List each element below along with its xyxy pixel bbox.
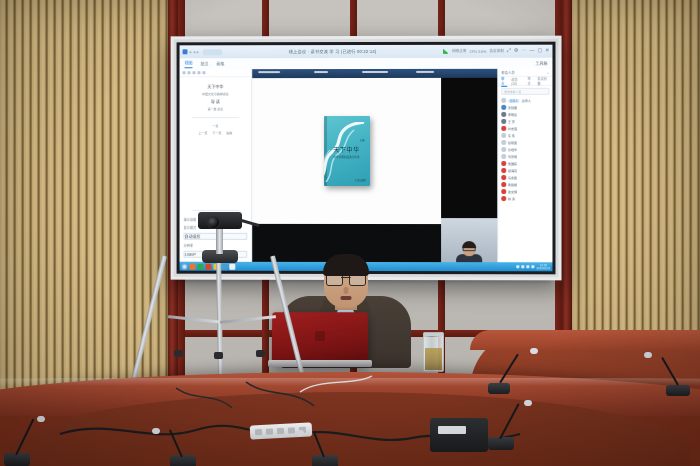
- conference-microphone: [614, 352, 700, 396]
- tab-pen[interactable]: 画笔: [216, 61, 224, 67]
- participants-panel: 参会人员 ⌄ 聊天 成员 (18) 举手 会议纪要 搜索参会人员 主持人主持人: [497, 69, 552, 263]
- participant-row[interactable]: 郑海燕: [498, 167, 552, 174]
- avatar: [501, 154, 506, 159]
- title-bar-right: 网络正常 CPU 3.6% 会议录制 ⤢ ⚙ ⋯ — ▢ ✕: [443, 49, 549, 54]
- settings-divider: [191, 210, 239, 211]
- avatar: [501, 126, 506, 131]
- clock-date: 2023/02/21: [536, 266, 550, 270]
- image-icon[interactable]: [202, 71, 205, 74]
- participant-row[interactable]: 黄丽娟: [498, 181, 552, 188]
- shared-slide: 主编 天下中华 中华文明的起源与传承 人民出版社: [252, 78, 441, 224]
- avatar: [501, 112, 506, 117]
- participants-tabs: 聊天 成员 (18) 举手 会议纪要: [498, 77, 552, 86]
- volume-tray-icon[interactable]: [521, 265, 524, 268]
- camera-lens-icon: [207, 216, 220, 229]
- participant-name: 徐文博: [508, 189, 517, 194]
- close-button[interactable]: ✕: [545, 49, 549, 54]
- participant-name: 李明远: [508, 112, 517, 117]
- tab-view[interactable]: 视图: [185, 60, 193, 68]
- participant-row[interactable]: 马永胜: [498, 174, 552, 181]
- tab-raise-hand[interactable]: 举手: [527, 76, 533, 86]
- participant-row[interactable]: 刘志强: [498, 125, 552, 132]
- participant-row[interactable]: 主持人主持人: [498, 97, 552, 104]
- document-ribbon: [180, 69, 252, 77]
- search-placeholder: 搜索参会人员: [504, 89, 521, 93]
- conference-microphone: [488, 348, 598, 394]
- document-body: 天下中华 中国文化与精神谱系 导 读 第一章 总论 一览 上一页 下一页 缩放: [184, 81, 248, 134]
- shield-tray-icon[interactable]: [531, 265, 534, 268]
- presenter-hair: [323, 254, 369, 276]
- book-subtitle: 中华文明的起源与传承: [324, 154, 370, 158]
- network-tray-icon[interactable]: [516, 265, 519, 268]
- participant-row[interactable]: 赵晓雯: [498, 139, 552, 146]
- participant-name: 王 芳: [508, 119, 515, 124]
- book-publisher: 人民出版社: [355, 178, 367, 182]
- control-unit[interactable]: [430, 418, 488, 452]
- avatar: [501, 189, 506, 194]
- self-video-image: [441, 218, 497, 262]
- participants-title: 参会人员: [501, 70, 515, 75]
- avatar: [501, 98, 506, 103]
- tea-liquid: [425, 348, 442, 370]
- bold-icon[interactable]: [183, 71, 186, 74]
- laptop-logo: [315, 331, 325, 341]
- italic-icon[interactable]: [188, 71, 191, 74]
- participant-list: 主持人主持人张建国李明远王 芳刘志强陈 伟赵晓雯孙培华周景明吴国栋郑海燕马永胜黄…: [498, 97, 552, 202]
- gear-icon[interactable]: ⚙: [514, 49, 519, 54]
- self-video-tile[interactable]: [441, 78, 497, 262]
- doc-line-3: 导 读: [184, 99, 248, 105]
- screenshot-root: 线上会议 · 读书交流 学 习 (已进行 00:22:14) 网络正常 CPU …: [0, 0, 700, 466]
- participant-name: 林 涛: [508, 196, 515, 201]
- control-unit-button[interactable]: [438, 426, 466, 434]
- presenter-nose: [343, 287, 348, 294]
- participant-name: 郑海燕: [508, 168, 517, 173]
- conference-table-right-surface: [470, 330, 700, 350]
- participant-row[interactable]: 王 芳: [498, 118, 552, 125]
- nav-next[interactable]: 下一页: [212, 131, 221, 135]
- system-tray: [516, 265, 534, 268]
- record-label[interactable]: 会议录制: [489, 49, 503, 54]
- nav-zoom[interactable]: 缩放: [226, 131, 232, 135]
- align-icon[interactable]: [192, 71, 195, 74]
- participant-row[interactable]: 徐文博: [498, 188, 552, 195]
- maximize-button[interactable]: ▢: [537, 49, 542, 54]
- host-badge: 主持人: [508, 98, 520, 102]
- book-author-mark: 主编: [360, 138, 365, 142]
- list-icon[interactable]: [197, 71, 200, 74]
- tripod-lock-left[interactable]: [174, 350, 183, 357]
- doc-line-2: 中国文化与精神谱系: [184, 92, 248, 96]
- ime-tray-icon[interactable]: [526, 265, 529, 268]
- participant-row[interactable]: 吴国栋: [498, 160, 552, 167]
- avatar: [501, 119, 506, 124]
- participant-name: 赵晓雯: [508, 140, 517, 145]
- nav-prev[interactable]: 上一页: [198, 131, 207, 135]
- avatar: [501, 182, 506, 187]
- participant-row[interactable]: 林 涛: [498, 195, 552, 202]
- avatar: [501, 147, 506, 152]
- participant-name: 孙培华: [508, 147, 517, 152]
- title-dots: [190, 51, 199, 53]
- avatar: [501, 196, 506, 201]
- tripod-center-column: [216, 226, 223, 254]
- tab-chat[interactable]: 聊天: [501, 75, 507, 86]
- participant-name: 黄丽娟: [508, 182, 517, 187]
- minimize-button[interactable]: —: [529, 49, 534, 54]
- avatar: [501, 140, 506, 145]
- book-cover: 主编 天下中华 中华文明的起源与传承 人民出版社: [324, 116, 370, 186]
- tab-annotate[interactable]: 批注: [200, 61, 208, 67]
- participant-name: 主持人: [522, 98, 531, 103]
- participant-name: 刘志强: [508, 126, 517, 131]
- fullscreen-icon[interactable]: ⤢: [507, 49, 511, 54]
- participant-name: 吴国栋: [508, 161, 517, 166]
- participant-name: 马永胜: [508, 175, 517, 180]
- participant-name: 周景明: [508, 154, 517, 159]
- network-label: 网络正常: [452, 49, 466, 54]
- taskbar-clock[interactable]: 15:05 2023/02/21: [536, 264, 550, 270]
- app-icon: [183, 49, 188, 54]
- conference-microphone: [112, 428, 202, 466]
- participant-row[interactable]: 周景明: [498, 153, 552, 160]
- conference-microphone: [488, 398, 584, 450]
- avatar: [501, 133, 506, 138]
- meeting-id-pill[interactable]: [202, 49, 222, 55]
- tripod-lock-right[interactable]: [256, 350, 265, 357]
- chevron-down-icon[interactable]: ⌄: [547, 70, 550, 74]
- tab-minutes[interactable]: 会议纪要: [537, 76, 549, 86]
- network-icon: [443, 49, 449, 54]
- tripod-spreader: [168, 318, 276, 322]
- participant-search-input[interactable]: 搜索参会人员: [501, 88, 549, 95]
- participant-row[interactable]: 张建国: [498, 104, 552, 111]
- toolbox-button[interactable]: 工具箱: [535, 60, 547, 66]
- doc-line-4: 第一章 总论: [184, 107, 248, 111]
- jar-lid: [423, 332, 444, 336]
- doc-section-label: 一览: [184, 124, 248, 128]
- participant-row[interactable]: 陈 伟: [498, 132, 552, 139]
- participant-name: 张建国: [508, 105, 517, 110]
- self-video-hair: [462, 241, 476, 248]
- conference-microphone: [4, 414, 94, 466]
- book-title: 天下中华: [324, 145, 370, 154]
- meeting-title: 线上会议 · 读书交流 学 习 (已进行 00:22:14): [222, 48, 443, 54]
- avatar: [501, 175, 506, 180]
- shared-window-header: [252, 69, 497, 78]
- participant-name: 陈 伟: [508, 133, 515, 138]
- tea-glass-jar: [423, 332, 444, 372]
- avatar: [501, 161, 506, 166]
- cpu-label: CPU 3.6%: [470, 49, 487, 53]
- participant-row[interactable]: 孙培华: [498, 146, 552, 153]
- conference-microphone: [262, 430, 352, 466]
- doc-title: 天下中华: [184, 84, 248, 90]
- participant-row[interactable]: 李明远: [498, 111, 552, 118]
- tripod-lock-center[interactable]: [214, 352, 223, 359]
- more-icon[interactable]: ⋯: [521, 49, 526, 54]
- doc-divider: [191, 117, 239, 118]
- avatar: [501, 105, 506, 110]
- presenter-mouth: [340, 296, 351, 300]
- tab-members[interactable]: 成员 (18): [511, 76, 523, 85]
- video-camera-head: [198, 212, 242, 229]
- avatar: [501, 168, 506, 173]
